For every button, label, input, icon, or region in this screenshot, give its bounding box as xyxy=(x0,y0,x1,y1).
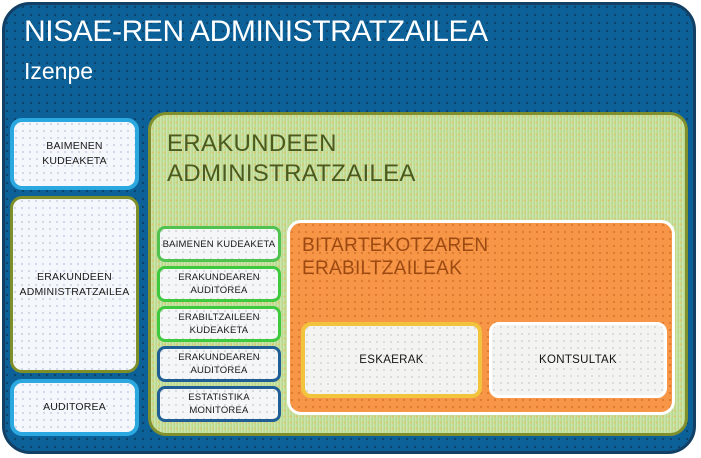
orange-panel-title: BITARTEKOTZAREN ERABILTZAILEAK xyxy=(302,234,488,280)
menu-item-erakundearen-auditorea-green[interactable]: ERAKUNDEAREN AUDITOREA xyxy=(157,266,281,302)
orange-panel-bitartekotzaren-erabiltzaileak: BITARTEKOTZAREN ERABILTZAILEAK ESKAERAK … xyxy=(287,220,675,415)
leaf-item-label: KONTSULTAK xyxy=(539,354,617,366)
sidebar-item-label: AUDITOREA xyxy=(43,400,106,415)
menu-item-label: ESTATISTIKA MONITOREA xyxy=(160,391,278,417)
leaf-item-eskaerak[interactable]: ESKAERAK xyxy=(301,322,482,398)
leaf-item-kontsultak[interactable]: KONTSULTAK xyxy=(489,322,667,398)
page-subtitle: Izenpe xyxy=(24,56,644,86)
sidebar-item-auditorea[interactable]: AUDITOREA xyxy=(10,379,139,436)
green-panel-title: ERAKUNDEEN ADMINISTRATZAILEA xyxy=(167,129,416,189)
sidebar-item-baimenen-kudeaketa[interactable]: BAIMENEN KUDEAKETA xyxy=(10,118,139,190)
sidebar-item-erakundeen-administratzailea[interactable]: ERAKUNDEEN ADMINISTRATZAILEA xyxy=(10,196,139,373)
page-title: NISAE-REN ADMINISTRATZAILEA xyxy=(24,14,644,50)
sidebar-item-label: BAIMENEN KUDEAKETA xyxy=(14,139,135,169)
menu-item-estatistika-monitorea[interactable]: ESTATISTIKA MONITOREA xyxy=(157,386,281,422)
menu-item-erakundearen-auditorea-blue[interactable]: ERAKUNDEAREN AUDITOREA xyxy=(157,346,281,382)
menu-item-label: ERAKUNDEAREN AUDITOREA xyxy=(160,271,278,297)
sidebar-item-label: ERAKUNDEEN ADMINISTRATZAILEA xyxy=(13,270,136,300)
menu-item-erabiltzaileen-kudeaketa[interactable]: ERABILTZAILEEN KUDEAKETA xyxy=(157,306,281,342)
menu-item-label: BAIMENEN KUDEAKETA xyxy=(163,238,276,251)
menu-item-baimenen-kudeaketa[interactable]: BAIMENEN KUDEAKETA xyxy=(157,226,281,262)
green-panel-menu-column: BAIMENEN KUDEAKETA ERAKUNDEAREN AUDITORE… xyxy=(157,226,281,426)
leaf-item-label: ESKAERAK xyxy=(359,354,423,366)
green-panel-erakundeen-administratzailea: ERAKUNDEEN ADMINISTRATZAILEA BAIMENEN KU… xyxy=(148,112,688,436)
header: NISAE-REN ADMINISTRATZAILEA Izenpe xyxy=(24,14,644,86)
menu-item-label: ERAKUNDEAREN AUDITOREA xyxy=(160,351,278,377)
diagram-canvas: NISAE-REN ADMINISTRATZAILEA Izenpe BAIME… xyxy=(0,0,701,458)
menu-item-label: ERABILTZAILEEN KUDEAKETA xyxy=(160,311,278,337)
